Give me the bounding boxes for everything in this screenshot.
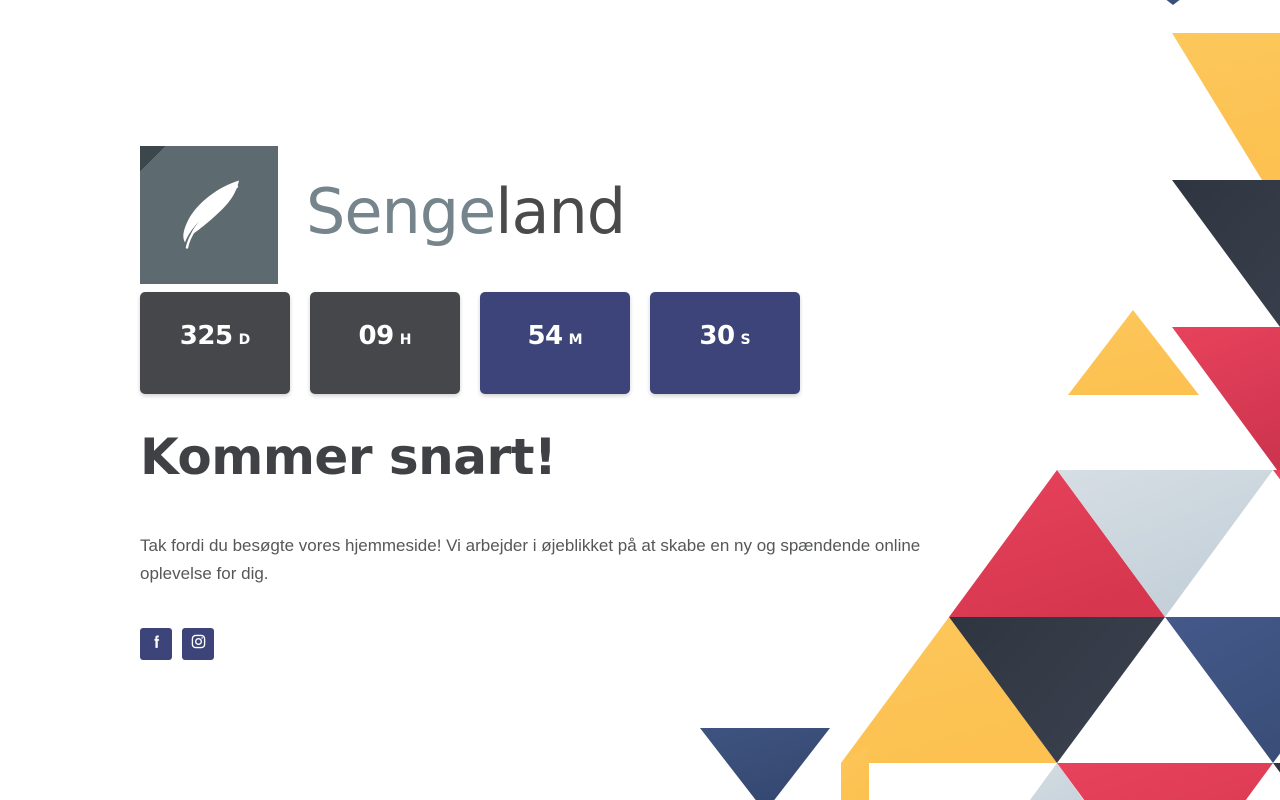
triangle-yellow-mid — [1068, 310, 1199, 395]
countdown-box-days: 325 D — [140, 292, 290, 394]
brand-logo: Sengeland — [140, 146, 940, 284]
triangle-yellow-sliver — [841, 745, 869, 800]
countdown-minutes-unit: M — [569, 332, 583, 348]
social-link-facebook[interactable] — [140, 628, 172, 660]
logo-corner-fold-dark — [140, 146, 166, 172]
triangle-navy-bottomleft — [700, 728, 830, 800]
triangle-lightgray-cluster — [1057, 470, 1273, 617]
triangle-yellow-topright-b — [1172, 33, 1280, 180]
content-column: Sengeland 325 D 09 H 54 M — [140, 146, 940, 660]
countdown-seconds-value: 30 — [699, 321, 734, 351]
countdown-box-seconds: 30 S — [650, 292, 800, 394]
social-link-instagram[interactable] — [182, 628, 214, 660]
triangle-navy-top — [1115, 0, 1232, 5]
triangle-red-right — [1172, 327, 1280, 474]
brand-name-part2: land — [495, 175, 625, 248]
countdown-box-hours: 09 H — [310, 292, 460, 394]
triangle-red-rightedge-top — [1273, 470, 1280, 540]
instagram-icon — [190, 633, 207, 655]
facebook-icon — [148, 633, 165, 655]
countdown-timer: 325 D 09 H 54 M 30 S — [140, 292, 940, 394]
triangle-red-bottom — [1057, 763, 1273, 800]
triangle-charcoal-topright — [1172, 180, 1280, 327]
triangle-red-cluster — [949, 470, 1165, 617]
triangle-charcoal-row3 — [949, 617, 1165, 763]
countdown-minutes-value: 54 — [527, 321, 562, 351]
countdown-hours-value: 09 — [359, 321, 394, 351]
countdown-days-unit: D — [239, 332, 251, 348]
social-links — [140, 628, 940, 660]
coming-soon-page: Sengeland 325 D 09 H 54 M — [0, 0, 1280, 800]
brand-name-part1: Senge — [306, 175, 495, 248]
countdown-hours-unit: H — [400, 332, 412, 348]
brand-wordmark: Sengeland — [306, 181, 625, 249]
countdown-seconds-unit: S — [741, 332, 751, 348]
triangle-lightgray-bottom — [1003, 763, 1110, 800]
countdown-box-minutes: 54 M — [480, 292, 630, 394]
feather-icon — [161, 165, 257, 266]
triangle-charcoal-bottom — [1273, 763, 1280, 800]
page-description: Tak fordi du besøgte vores hjemmeside! V… — [140, 532, 940, 588]
countdown-days-value: 325 — [180, 321, 233, 351]
page-title: Kommer snart! — [140, 430, 940, 485]
triangle-steel-row3 — [1165, 617, 1280, 763]
triangle-yellow-topright — [1172, 33, 1280, 180]
logo-mark — [140, 146, 278, 284]
